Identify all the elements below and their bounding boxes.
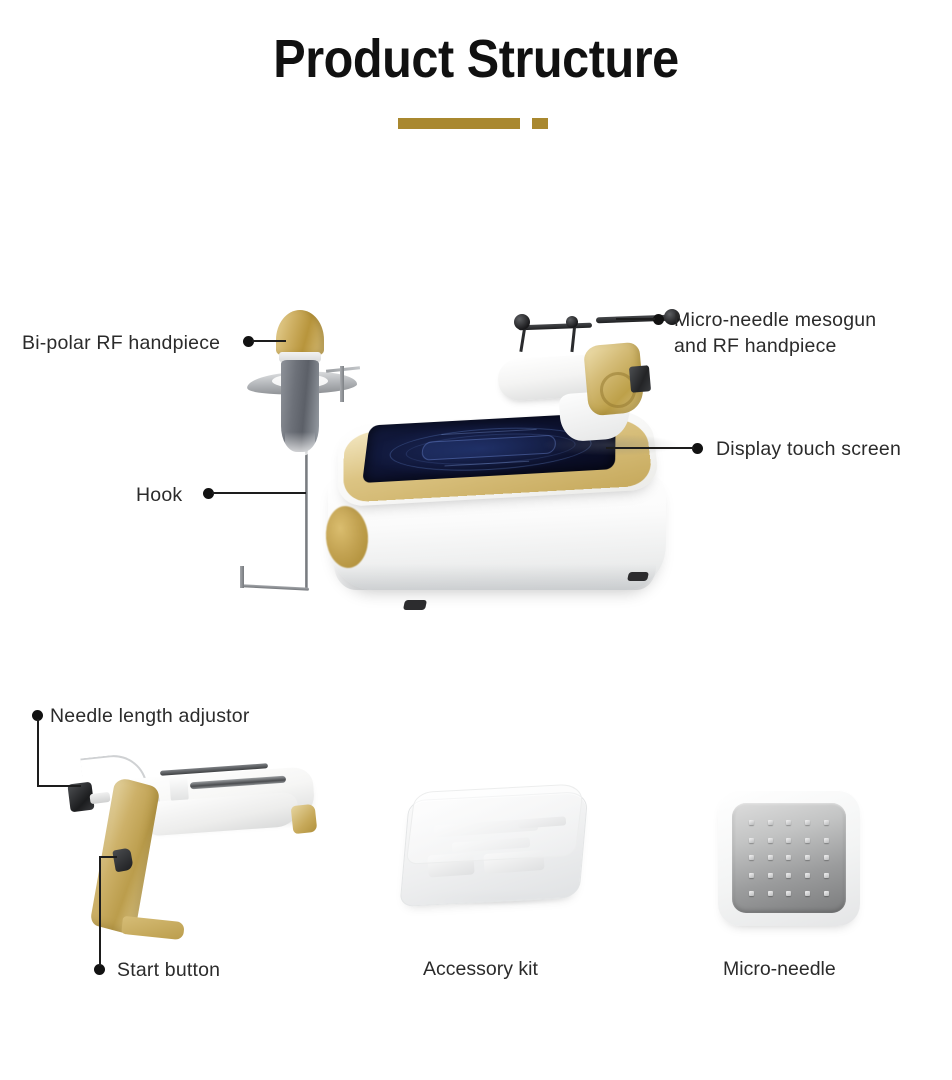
micro-needle-pin: [805, 820, 810, 825]
micro-needle-pin: [749, 873, 754, 878]
callout-label-needle-adjustor: Needle length adjustor: [50, 704, 250, 729]
title-divider: [0, 118, 952, 132]
mesogun-cartridge-slot: [169, 774, 189, 801]
console-foot-left: [403, 600, 427, 610]
micro-needle-pin: [786, 838, 791, 843]
mesogun-knob-left: [514, 314, 530, 330]
callout-line-start-button-horizontal: [99, 856, 117, 858]
callout-line-start-button-vertical: [99, 856, 101, 966]
micro-needle-pin-grid: [742, 814, 836, 902]
hook-stand-post: [340, 366, 344, 402]
product-structure-poster: Product Structure: [0, 0, 952, 1080]
micro-needle-pin: [805, 855, 810, 860]
micro-needle-pin: [786, 873, 791, 878]
caption-accessory-kit: Accessory kit: [423, 958, 538, 981]
callout-label-display: Display touch screen: [716, 437, 901, 462]
accessory-kit-illustration: [398, 782, 588, 912]
callout-line-bipolar-rf: [252, 340, 286, 342]
bipolar-rf-handpiece-body: [281, 360, 319, 452]
micro-needle-pin: [768, 838, 773, 843]
micro-needle-illustration: [718, 790, 864, 930]
callout-line-display: [606, 447, 694, 449]
page-title: Product Structure: [48, 28, 905, 90]
accessory-kit-clear-lid: [406, 783, 585, 864]
callout-label-mesogun-line2: and RF handpiece: [674, 333, 944, 359]
micro-needle-pin: [768, 820, 773, 825]
micro-needle-pin: [768, 891, 773, 896]
divider-bar: [398, 118, 520, 129]
micro-needle-pin: [824, 855, 829, 860]
hook-stand-foot-post: [240, 566, 244, 588]
callout-label-start-button: Start button: [117, 958, 220, 983]
callout-label-mesogun-line1: Micro-needle mesogun: [674, 307, 944, 333]
callout-line-hook: [212, 492, 306, 494]
mesogun-black-tip: [629, 365, 651, 393]
micro-needle-pin: [805, 873, 810, 878]
micro-needle-pin: [824, 838, 829, 843]
mesogun-grip-base: [121, 916, 185, 940]
mesogun-knob-middle: [566, 316, 578, 328]
micro-needle-pin: [805, 891, 810, 896]
callout-label-bipolar-rf: Bi-polar RF handpiece: [22, 331, 220, 356]
console-foot-right: [627, 572, 649, 581]
mesogun-rear-gold-cap: [291, 804, 318, 834]
bipolar-rf-handpiece-gold-cap: [276, 310, 324, 356]
micro-needle-pin: [768, 855, 773, 860]
micro-needle-pin: [824, 891, 829, 896]
micro-needle-pin: [786, 891, 791, 896]
micro-needle-pin: [805, 838, 810, 843]
divider-square: [532, 118, 548, 129]
micro-needle-pin: [786, 855, 791, 860]
micro-needle-pin: [749, 855, 754, 860]
micro-needle-pin: [749, 891, 754, 896]
micro-needle-pin: [749, 838, 754, 843]
mesogun-product-illustration: [30, 745, 330, 935]
micro-needle-pin: [749, 820, 754, 825]
hook-stand-foot: [243, 584, 309, 590]
callout-line-needle-adjustor-vertical: [37, 719, 39, 787]
callout-line-mesogun: [616, 318, 655, 320]
micro-needle-pin: [786, 820, 791, 825]
callout-label-mesogun: Micro-needle mesogun and RF handpiece: [674, 307, 944, 359]
micro-needle-pin: [824, 873, 829, 878]
micro-needle-pin: [768, 873, 773, 878]
callout-line-needle-adjustor-horizontal: [37, 785, 81, 787]
micro-needle-pin: [824, 820, 829, 825]
needle-length-adjustor-neck: [89, 792, 110, 804]
callout-label-hook: Hook: [136, 483, 182, 508]
caption-micro-needle: Micro-needle: [723, 958, 836, 981]
